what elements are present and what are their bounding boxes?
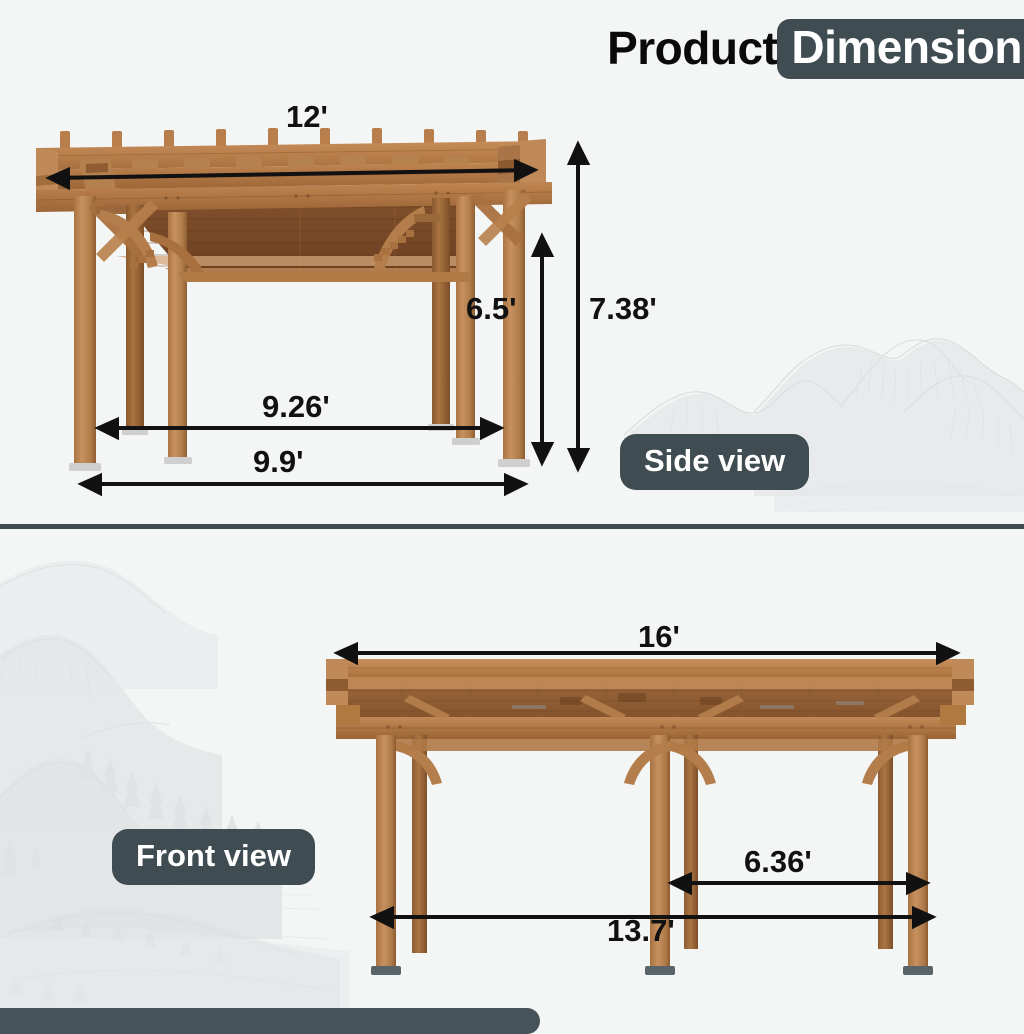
bottom-accent-bar — [0, 1008, 540, 1034]
dimension-label-post-span: 13.7' — [607, 915, 675, 946]
side-view-badge: Side view — [620, 434, 809, 490]
dimension-label-overall-height: 7.38' — [589, 293, 657, 324]
product-dimension-page: 12' 6.5' 7.38' 9.26' 9.9' Side view — [0, 0, 1024, 1024]
dimension-label-overall-length: 16' — [638, 621, 680, 652]
front-view-badge-placed: Front view — [112, 829, 315, 885]
dimension-label-top-width: 12' — [286, 101, 328, 132]
side-view-panel: 12' 6.5' 7.38' 9.26' 9.9' Side view — [0, 0, 1024, 527]
dimension-label-inner-post-span: 9.26' — [262, 391, 330, 422]
dimension-label-post-height: 6.5' — [466, 293, 516, 324]
front-view-panel: Front view — [0, 529, 1024, 1024]
dimension-label-outer-post-span: 9.9' — [253, 446, 303, 477]
pergola-side-view-illustration — [0, 0, 1024, 527]
panel-divider — [0, 524, 1024, 529]
dimension-label-bay-span: 6.36' — [744, 846, 812, 877]
pergola-front-view-illustration — [0, 529, 1024, 1024]
